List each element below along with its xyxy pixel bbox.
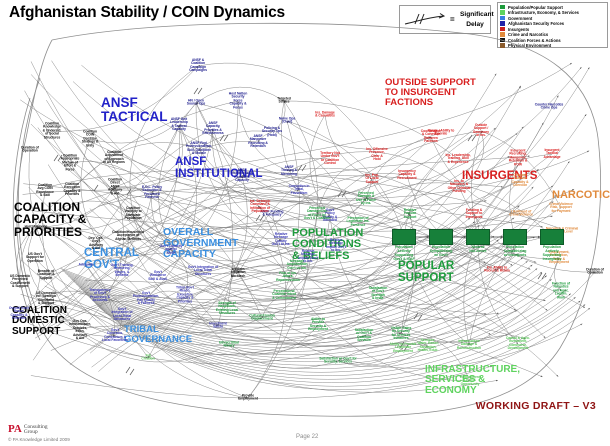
- green-box-population-actively-supporting-govt-isaf: [392, 229, 416, 245]
- green-box-population-actively-supporting-insurgency: [540, 229, 564, 245]
- copyright-notice: © PA Knowledge Limited 2009: [8, 437, 70, 442]
- legend-swatch-icon: [500, 10, 505, 14]
- causal-link-network: [0, 18, 610, 418]
- legend-item-label: Infrastructure, Economy, & Services: [508, 10, 579, 15]
- green-box-neutral-or-not-committed: [466, 229, 490, 245]
- legend-swatch-icon: [500, 5, 505, 9]
- green-box-population-sympathizing-w-insurgents: [503, 229, 527, 245]
- logo-consulting-group-text: Consulting Group: [24, 425, 48, 436]
- green-box-population-sympathizing-w-govt: [429, 229, 453, 245]
- logo-pa-mark: PA: [8, 424, 22, 434]
- page-number: Page 22: [296, 434, 318, 440]
- coin-dynamics-diagram: ANSF TACTICALANSF INSTITUTIONALOUTSIDE S…: [0, 18, 610, 418]
- footer-rule: [0, 418, 610, 419]
- working-draft-label: WORKING DRAFT – V3: [476, 400, 596, 412]
- slide-page: Afghanistan Stability / COIN Dynamics = …: [0, 0, 610, 446]
- pa-consulting-logo: PA Consulting Group: [8, 424, 48, 435]
- legend-item-label: Population/Popular Support: [508, 5, 563, 10]
